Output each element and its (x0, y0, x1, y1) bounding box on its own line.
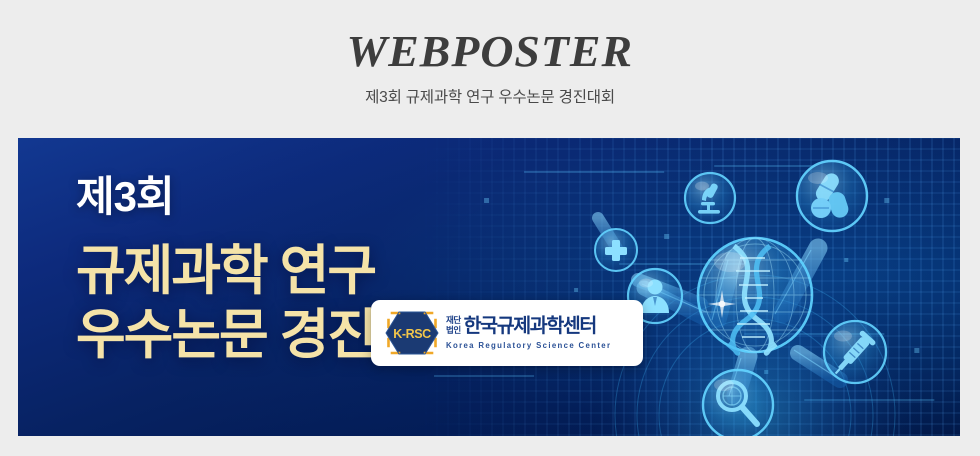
page-header: WEBPOSTER 제3회 규제과학 연구 우수논문 경진대회 (0, 0, 980, 138)
syringe-node (824, 321, 886, 383)
concentric-rings (615, 275, 895, 436)
molecule-bond-highlights (642, 250, 836, 396)
edition-kicker: 제3회 (76, 176, 470, 218)
webposter-page: WEBPOSTER 제3회 규제과학 연구 우수논문 경진대회 (0, 0, 980, 456)
page-title: WEBPOSTER (347, 30, 634, 74)
microscope-node (685, 173, 735, 223)
krsc-name-english: Korea Regulatory Science Center (446, 341, 611, 350)
dna-helix-icon (728, 246, 776, 353)
dna-globe-node (698, 238, 812, 353)
magnifier-icon (718, 382, 757, 424)
medical-cross-node (595, 229, 637, 271)
krsc-mark-text: K-RSC (393, 327, 431, 341)
headline-line-1: 규제과학 연구 (76, 241, 375, 301)
page-subtitle: 제3회 규제과학 연구 우수논문 경진대회 (365, 85, 615, 107)
digital-grid-texture (414, 138, 960, 436)
magnifier-node (703, 370, 773, 436)
krsc-logo-card[interactable]: K-RSC 재단 법인 한국규제과학센터 Korea Regulatory Sc… (371, 300, 643, 366)
globe-sparkle (708, 290, 736, 318)
krsc-hexagon-logo-icon: K-RSC (385, 310, 439, 356)
syringe-icon (829, 330, 876, 379)
krsc-name-korean: 한국규제과학센터 (464, 317, 596, 337)
foundation-label-line-2: 법인 (446, 326, 461, 335)
pills-node (797, 161, 867, 231)
pills-icon (811, 171, 851, 220)
tech-scanline-decoration (414, 138, 960, 436)
foundation-label: 재단 법인 (446, 316, 461, 334)
krsc-logo-text: 재단 법인 한국규제과학센터 Korea Regulatory Science … (446, 316, 611, 349)
poster-banner[interactable]: 제3회 규제과학 연구 우수논문 경진대회 K-RSC (18, 138, 960, 436)
globe-grid-icon (698, 238, 812, 352)
person-icon (641, 280, 669, 314)
microscope-icon (698, 182, 720, 213)
medical-cross-icon (605, 240, 627, 261)
